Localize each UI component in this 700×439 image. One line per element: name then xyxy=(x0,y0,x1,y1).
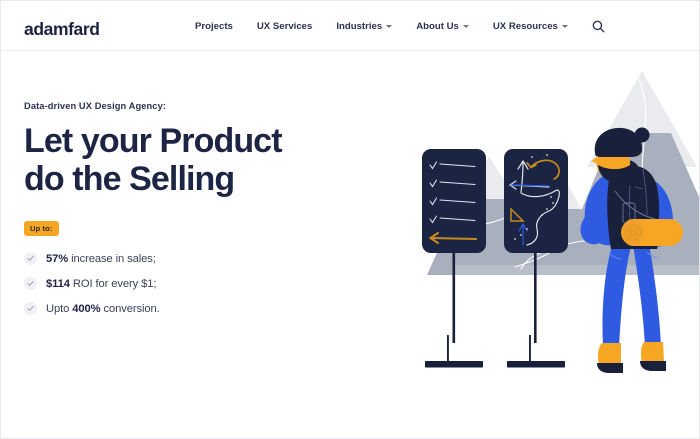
chevron-down-icon xyxy=(562,25,568,28)
nav-item-industries[interactable]: Industries xyxy=(324,15,404,38)
benefit-value: 57% xyxy=(46,253,68,265)
page-root: adamfard Projects UX Services Industries… xyxy=(0,0,700,439)
nav-item-label: UX Resources xyxy=(493,21,558,32)
chevron-down-icon xyxy=(386,25,392,28)
nav-item-about-us[interactable]: About Us xyxy=(404,15,481,38)
check-icon xyxy=(27,255,34,262)
benefit-label: $114 ROI for every $1; xyxy=(46,278,156,290)
nav-item-label: Industries xyxy=(336,21,382,32)
benefit-lead: Upto xyxy=(46,303,72,315)
hero-illustration xyxy=(399,57,699,387)
benefit-value: 400% xyxy=(72,303,100,315)
ground-strip xyxy=(455,265,699,275)
nav-item-projects[interactable]: Projects xyxy=(191,15,245,38)
site-header: adamfard Projects UX Services Industries… xyxy=(1,1,699,51)
nav-item-label: Projects xyxy=(195,21,233,32)
hiker-boots xyxy=(597,342,666,373)
brand-logo[interactable]: adamfard xyxy=(24,21,100,39)
nav-item-ux-services[interactable]: UX Services xyxy=(245,15,324,38)
hiker-sleeping-mat xyxy=(621,219,683,246)
hero-eyebrow: Data-driven UX Design Agency: xyxy=(24,101,354,111)
chevron-down-icon xyxy=(463,25,469,28)
list-item: $114 ROI for every $1; xyxy=(24,271,354,296)
up-to-badge: Up to: xyxy=(24,221,59,237)
hiker-beanie-pompom xyxy=(635,128,650,143)
benefit-rest: conversion. xyxy=(100,303,159,315)
list-item: 57% increase in sales; xyxy=(24,246,354,271)
hero-text-block: Data-driven UX Design Agency: Let your P… xyxy=(24,101,354,321)
benefit-list: 57% increase in sales; $114 ROI for ever… xyxy=(24,246,354,321)
page-title: Let your Product do the Selling xyxy=(24,122,354,199)
main-nav: Projects UX Services Industries About Us… xyxy=(191,1,610,51)
check-icon xyxy=(27,280,34,287)
benefit-rest: increase in sales; xyxy=(68,253,156,265)
check-icon xyxy=(27,305,34,312)
benefit-label: Upto 400% conversion. xyxy=(46,303,160,315)
nav-item-label: UX Services xyxy=(257,21,312,32)
list-item: Upto 400% conversion. xyxy=(24,296,354,321)
benefit-value: $114 xyxy=(46,278,70,290)
search-icon xyxy=(592,20,605,33)
nav-item-label: About Us xyxy=(416,21,459,32)
nav-item-ux-resources[interactable]: UX Resources xyxy=(481,15,580,38)
benefit-rest: ROI for every $1; xyxy=(70,278,157,290)
check-circle-icon xyxy=(24,277,37,290)
hiker-with-signposts-mountains-illustration xyxy=(399,57,699,387)
check-circle-icon xyxy=(24,252,37,265)
check-circle-icon xyxy=(24,302,37,315)
search-button[interactable] xyxy=(588,15,610,37)
benefit-label: 57% increase in sales; xyxy=(46,253,156,265)
